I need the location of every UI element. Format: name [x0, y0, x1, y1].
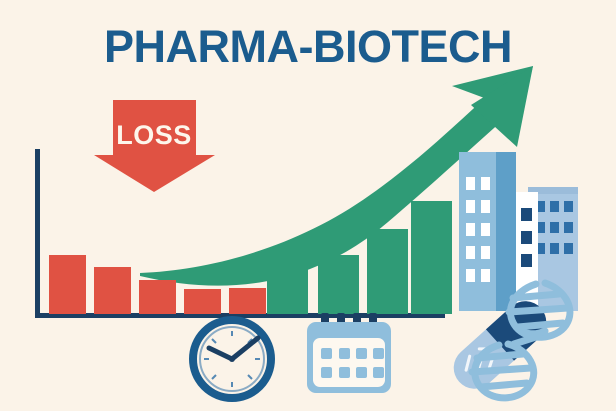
- bar-6: [267, 269, 308, 314]
- bar-3: [139, 280, 176, 314]
- poster-canvas: PHARMA-BIOTECH LOSS: [0, 0, 616, 411]
- calendar-icon: [307, 313, 391, 393]
- bar-7: [318, 255, 359, 314]
- bar-4: [184, 289, 221, 314]
- bar-2: [94, 267, 131, 314]
- bar-1: [49, 255, 86, 314]
- clock-icon: [193, 320, 271, 398]
- page-title: PHARMA-BIOTECH: [104, 21, 512, 72]
- loss-label: LOSS: [116, 120, 192, 150]
- y-axis: [35, 149, 40, 318]
- poster-artboard: PHARMA-BIOTECH LOSS: [0, 0, 616, 411]
- bar-5: [229, 288, 266, 314]
- bar-9: [411, 201, 452, 314]
- bar-8: [367, 229, 408, 314]
